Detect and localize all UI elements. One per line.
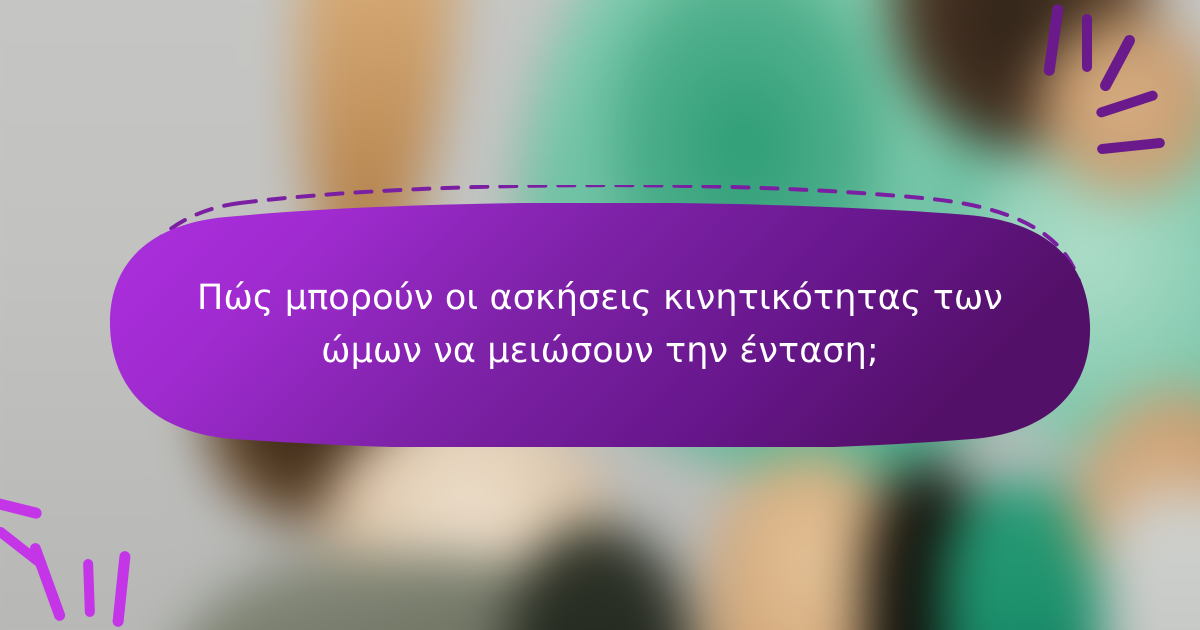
sparkle-stroke-3 <box>1098 33 1137 93</box>
question-banner: Πώς μπορούν οι ασκήσεις κινητικότητας τω… <box>100 185 1100 447</box>
sparkle-stroke-5 <box>1097 137 1166 154</box>
sparkle-stroke-5 <box>112 551 131 628</box>
question-line-1: Πώς μπορούν οι ασκήσεις κινητικότητας τω… <box>197 272 1003 325</box>
social-card-canvas: Πώς μπορούν οι ασκήσεις κινητικότητας τω… <box>0 0 1200 630</box>
sparkle-stroke-2 <box>1082 14 1092 72</box>
sparkle-stroke-3 <box>28 542 66 623</box>
sparkle-burst-bottom-left-icon <box>0 455 190 630</box>
sparkle-stroke-4 <box>83 559 95 617</box>
banner-text-block: Πώς μπορούν οι ασκήσεις κινητικότητας τω… <box>100 203 1100 447</box>
sparkle-stroke-1 <box>0 492 43 520</box>
question-line-2: ώμων να μειώσουν την ένταση; <box>321 325 879 378</box>
sparkle-burst-top-right-icon <box>1030 0 1200 170</box>
sparkle-stroke-4 <box>1095 89 1159 118</box>
sparkle-stroke-1 <box>1043 4 1064 77</box>
